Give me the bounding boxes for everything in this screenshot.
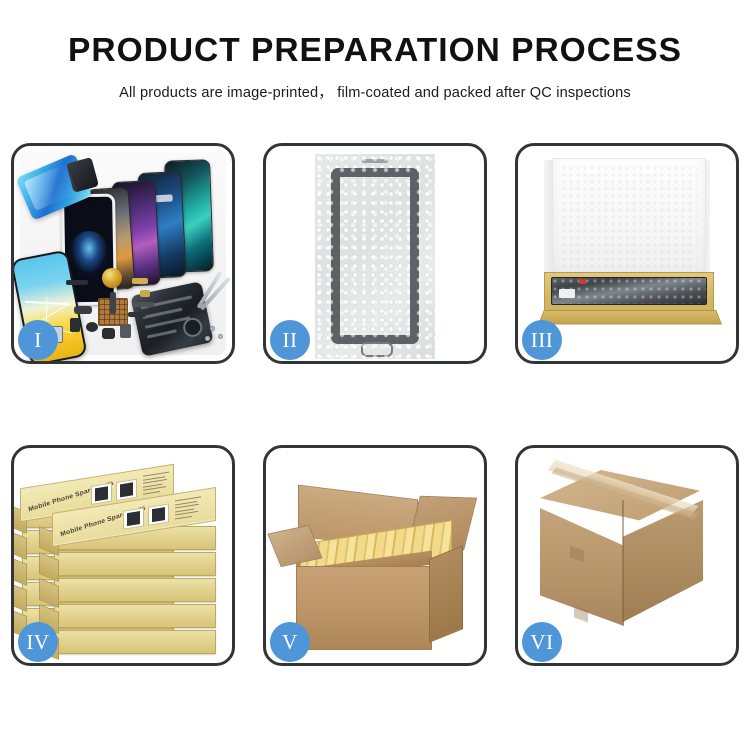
page-subtitle: All products are image-printed， film-coa… [0, 81, 750, 102]
step-badge-i: I [18, 320, 58, 360]
kraft-inner-box [544, 272, 714, 316]
speaker-coil-part [102, 268, 122, 288]
page-title: PRODUCT PREPARATION PROCESS [0, 34, 750, 68]
carton-side-face [429, 545, 463, 643]
spare-part [132, 302, 154, 307]
step-badge-ii: II [270, 320, 310, 360]
step-panel-ii[interactable]: II [263, 143, 487, 364]
process-steps-grid: I II [11, 143, 739, 666]
step-panel-iii[interactable]: III [515, 143, 739, 364]
page-header: PRODUCT PREPARATION PROCESS All products… [0, 0, 750, 102]
red-sticker [579, 279, 586, 284]
spare-part [120, 324, 131, 338]
process-row-bottom: Mobile Phone Spare Parts Mobile Phone Sp… [11, 445, 739, 666]
stacked-box [54, 552, 216, 576]
box-front-face [538, 310, 722, 324]
carton-front-face [296, 566, 432, 650]
step-badge-iii: III [522, 320, 562, 360]
spare-part [70, 318, 80, 332]
spare-part [132, 278, 148, 284]
stacked-box [54, 604, 216, 628]
wrapped-phone-screen [331, 168, 419, 344]
step-panel-vi[interactable]: VI [515, 445, 739, 666]
spare-part [140, 290, 150, 297]
screw [210, 326, 215, 331]
spare-part [66, 280, 88, 285]
carton-corner-edge [622, 500, 624, 622]
step-badge-vi: VI [522, 622, 562, 662]
screw [205, 336, 210, 341]
white-label [559, 289, 575, 298]
stacked-box [54, 630, 216, 654]
step-badge-v: V [270, 622, 310, 662]
spare-part [86, 322, 98, 332]
spare-part [102, 328, 115, 339]
bubble-wrap-sheet [315, 154, 435, 359]
spare-part [128, 312, 146, 317]
screw [218, 334, 223, 339]
stacked-box [54, 578, 216, 602]
spare-part [74, 306, 92, 314]
process-row-top: I II [11, 143, 739, 364]
step-panel-iv[interactable]: Mobile Phone Spare Parts Mobile Phone Sp… [11, 445, 235, 666]
step-panel-v[interactable]: V [263, 445, 487, 666]
step-badge-iv: IV [18, 622, 58, 662]
step-panel-i[interactable]: I [11, 143, 235, 364]
foam-insert [552, 158, 706, 282]
spare-part [110, 292, 116, 314]
